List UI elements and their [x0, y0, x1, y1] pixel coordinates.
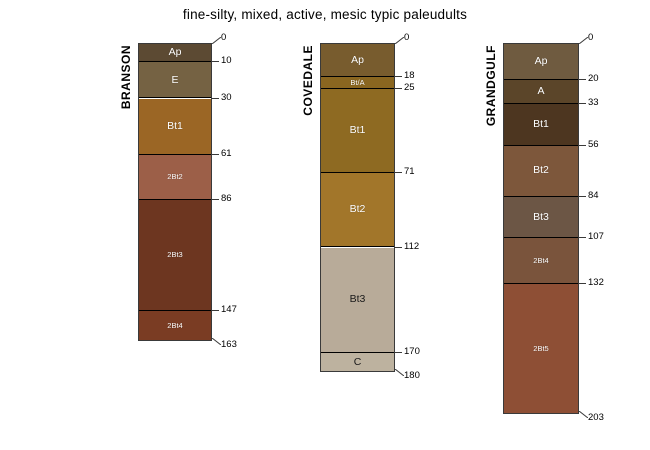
depth-tick: [579, 79, 586, 80]
soil-horizon: 2Bt4: [504, 238, 578, 283]
horizon-label: Bt/A: [350, 79, 364, 87]
depth-tick-label: 84: [588, 191, 599, 201]
depth-tick: [579, 283, 586, 284]
soil-horizon: A: [504, 80, 578, 104]
soil-horizon: 2Bt4: [139, 311, 211, 340]
depth-tick-label: 20: [588, 74, 599, 84]
soil-horizon: Bt3: [321, 248, 394, 353]
depth-tick: [395, 172, 402, 173]
horizon-column: ApEBt12Bt22Bt32Bt4: [138, 43, 212, 341]
horizon-label: Bt3: [533, 212, 549, 223]
depth-tick: [579, 237, 586, 238]
soil-horizon: Bt2: [504, 146, 578, 197]
soil-horizon: 2Bt5: [504, 284, 578, 413]
depth-tick-label: 0: [588, 33, 593, 43]
horizon-label: Bt3: [350, 294, 366, 305]
depth-tick-label: 61: [221, 149, 232, 159]
depth-tick-leader: [212, 338, 221, 345]
soil-horizon: Ap: [504, 44, 578, 80]
depth-tick-leader: [212, 37, 221, 44]
soil-horizon: 2Bt2: [139, 155, 211, 200]
depth-tick-label: 132: [588, 278, 604, 288]
depth-tick-label: 56: [588, 140, 599, 150]
depth-tick: [212, 199, 219, 200]
profile-name-label: BRANSON: [119, 45, 133, 109]
depth-tick-label: 25: [404, 83, 415, 93]
horizon-label: 2Bt3: [167, 251, 182, 259]
depth-tick: [212, 154, 219, 155]
soil-horizon: E: [139, 62, 211, 98]
horizon-label: C: [354, 357, 362, 368]
depth-tick-label: 147: [221, 305, 237, 315]
horizon-label: 2Bt2: [167, 173, 182, 181]
depth-tick-label: 30: [221, 93, 232, 103]
horizon-label: Bt2: [533, 165, 549, 176]
horizon-label: E: [171, 75, 178, 86]
depth-tick: [395, 76, 402, 77]
horizon-column: ApBt/ABt1Bt2Bt3C: [320, 43, 395, 372]
horizon-column: ApABt1Bt2Bt32Bt42Bt5: [503, 43, 579, 414]
depth-axis: [394, 43, 395, 370]
depth-tick: [395, 88, 402, 89]
depth-tick-label: 33: [588, 98, 599, 108]
depth-tick-label: 170: [404, 347, 420, 357]
depth-tick-label: 180: [404, 371, 420, 381]
depth-tick: [212, 61, 219, 62]
depth-tick-label: 107: [588, 232, 604, 242]
page-title: fine-silty, mixed, active, mesic typic p…: [0, 0, 650, 28]
soil-horizon: Bt/A: [321, 77, 394, 90]
profile-name-label: COVEDALE: [301, 45, 315, 116]
horizon-label: Bt1: [350, 125, 366, 136]
depth-axis: [211, 43, 212, 339]
horizon-label: Bt1: [533, 119, 549, 130]
depth-tick-leader: [395, 369, 404, 376]
depth-tick-label: 18: [404, 71, 415, 81]
depth-tick: [579, 103, 586, 104]
soil-horizon: Bt3: [504, 197, 578, 239]
soil-horizon: Ap: [321, 44, 394, 77]
soil-horizon: Ap: [139, 44, 211, 62]
horizon-label: Ap: [351, 55, 364, 66]
soil-horizon: 2Bt3: [139, 200, 211, 311]
soil-horizon: Bt1: [321, 89, 394, 173]
horizon-label: 2Bt5: [533, 345, 548, 353]
depth-tick-label: 203: [588, 413, 604, 423]
soil-horizon: Bt1: [504, 104, 578, 146]
horizon-label: 2Bt4: [533, 257, 548, 265]
depth-tick-label: 112: [404, 242, 419, 252]
depth-tick-leader: [579, 411, 588, 418]
depth-axis: [578, 43, 579, 412]
depth-tick-leader: [579, 37, 588, 44]
depth-tick-label: 0: [404, 33, 409, 43]
depth-tick-label: 10: [221, 56, 232, 66]
horizon-label: A: [537, 86, 544, 97]
horizon-label: Ap: [535, 56, 548, 67]
depth-tick: [579, 145, 586, 146]
horizon-label: 2Bt4: [167, 322, 182, 330]
profile-name-label: GRANDGULF: [484, 45, 498, 126]
depth-tick-label: 71: [404, 167, 415, 177]
depth-tick: [395, 247, 402, 248]
soil-horizon: C: [321, 353, 394, 371]
horizon-label: Bt2: [350, 204, 366, 215]
depth-tick: [212, 98, 219, 99]
depth-tick-label: 86: [221, 194, 232, 204]
horizon-label: Ap: [169, 47, 182, 58]
soil-horizon: Bt1: [139, 99, 211, 155]
depth-tick: [579, 196, 586, 197]
horizon-label: Bt1: [167, 121, 183, 132]
depth-tick: [212, 310, 219, 311]
soil-horizon: Bt2: [321, 173, 394, 247]
depth-tick-label: 163: [221, 340, 237, 350]
depth-tick: [395, 352, 402, 353]
depth-tick-leader: [395, 37, 404, 44]
depth-tick-label: 0: [221, 33, 226, 43]
